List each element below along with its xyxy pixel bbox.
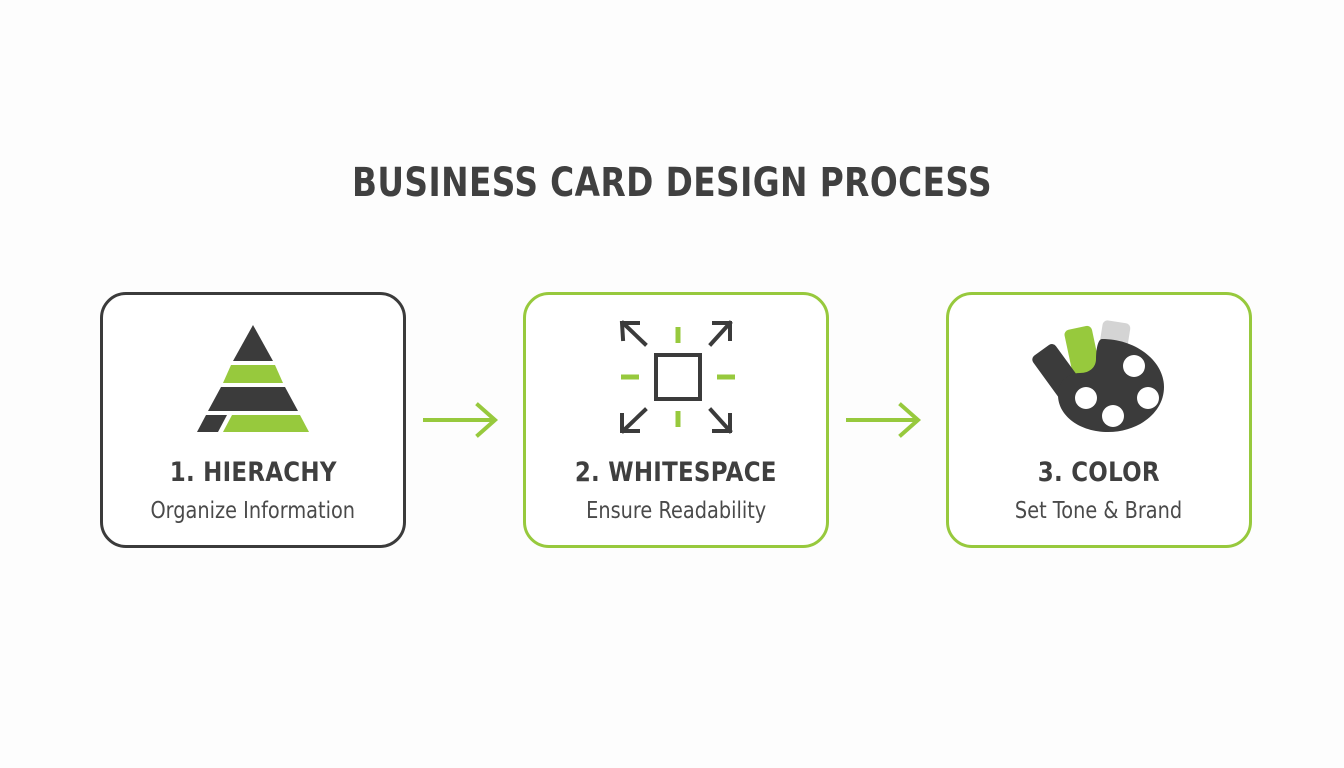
step-title: 1. HIERACHY [169,457,336,488]
step-title: 3. COLOR [1038,457,1160,488]
step-subtitle: Ensure Readability [586,498,766,524]
step-card-whitespace[interactable]: 2. WHITESPACE Ensure Readability [523,292,829,548]
step-card-color[interactable]: 3. COLOR Set Tone & Brand [946,292,1252,548]
infographic-canvas: BUSINESS CARD DESIGN PROCESS 1. HIERA [0,0,1344,768]
arrow-right-icon [846,400,930,440]
pyramid-icon [173,319,333,435]
step-subtitle: Set Tone & Brand [1015,498,1182,524]
connector-slot-2 [829,292,946,548]
step-subtitle: Organize Information [151,498,356,524]
expand-arrows-icon [596,319,756,435]
arrow-right-icon [423,400,507,440]
connector-slot-1 [406,292,523,548]
palette-icon [1019,319,1179,435]
process-flow-row: 1. HIERACHY Organize Information [100,292,1252,552]
step-card-hierachy[interactable]: 1. HIERACHY Organize Information [100,292,406,548]
step-title: 2. WHITESPACE [575,457,777,488]
page-title: BUSINESS CARD DESIGN PROCESS [121,160,1223,206]
